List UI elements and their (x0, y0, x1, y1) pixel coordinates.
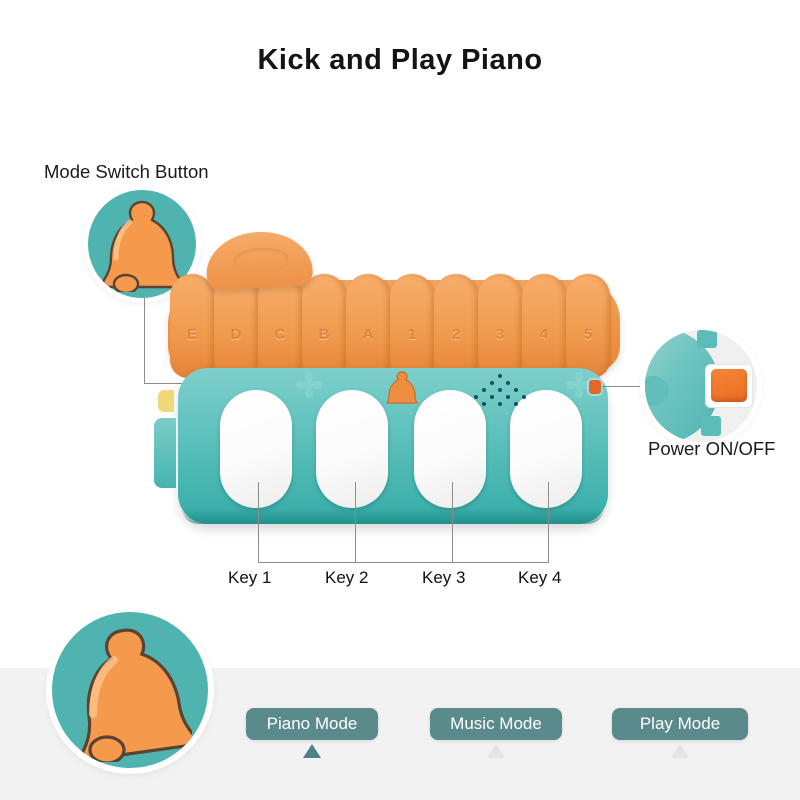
ridge-segment[interactable]: 3 (478, 274, 522, 378)
mode-pill-piano[interactable]: Piano Mode (246, 708, 378, 740)
product-infographic: Kick and Play Piano Mode Switch Button E… (0, 0, 800, 800)
ridge-bar: E D C B A 1 2 3 4 5 (168, 280, 620, 372)
ridge-segment[interactable]: 1 (390, 274, 434, 378)
page-title: Kick and Play Piano (0, 44, 800, 77)
key-leader-4 (548, 482, 549, 562)
speaker-grille-icon (468, 374, 532, 408)
mode-indicator-piano (303, 744, 321, 758)
ridge-segment[interactable]: 2 (434, 274, 478, 378)
bell-feature-callout (52, 612, 208, 768)
bell-icon[interactable] (384, 370, 420, 404)
mode-indicator-play (671, 744, 689, 758)
key-label-2: Key 2 (325, 568, 368, 588)
ridge-segment[interactable]: 5 (566, 274, 610, 378)
key-leader-3 (452, 482, 453, 562)
mode-indicator-music (487, 744, 505, 758)
mountain-decor-icon (205, 229, 314, 290)
mode-pill-label: Piano Mode (267, 714, 358, 734)
ridge-segment[interactable]: E (170, 274, 214, 378)
power-switch-icon[interactable] (589, 380, 601, 394)
key-label-4: Key 4 (518, 568, 561, 588)
key-bracket (258, 562, 549, 563)
piano-key-2[interactable] (316, 390, 388, 508)
mode-pill-music[interactable]: Music Mode (430, 708, 562, 740)
power-callout-tab-top (697, 330, 717, 348)
side-accent (158, 390, 174, 412)
key-label-3: Key 3 (422, 568, 465, 588)
flower-icon (296, 372, 322, 398)
power-switch-icon[interactable] (711, 369, 747, 402)
bell-icon (70, 622, 192, 762)
mode-pill-label: Play Mode (640, 714, 720, 734)
power-label: Power ON/OFF (648, 438, 775, 460)
power-callout-tab-bottom (701, 416, 721, 436)
ridge-segment[interactable]: A (346, 274, 390, 378)
key-label-1: Key 1 (228, 568, 271, 588)
power-callout (645, 330, 757, 442)
piano-key-1[interactable] (220, 390, 292, 508)
key-leader-1 (258, 482, 259, 562)
mode-pill-label: Music Mode (450, 714, 542, 734)
mode-leader-vertical (144, 298, 145, 384)
ridge-segment[interactable]: 4 (522, 274, 566, 378)
side-handle (154, 418, 176, 488)
key-leader-2 (355, 482, 356, 562)
mode-switch-label: Mode Switch Button (44, 161, 209, 183)
mode-pill-play[interactable]: Play Mode (612, 708, 748, 740)
piano-toy-illustration: E D C B A 1 2 3 4 5 (168, 222, 620, 534)
ridge-segment[interactable]: B (302, 274, 346, 378)
ridge-segment[interactable]: C (258, 274, 302, 378)
